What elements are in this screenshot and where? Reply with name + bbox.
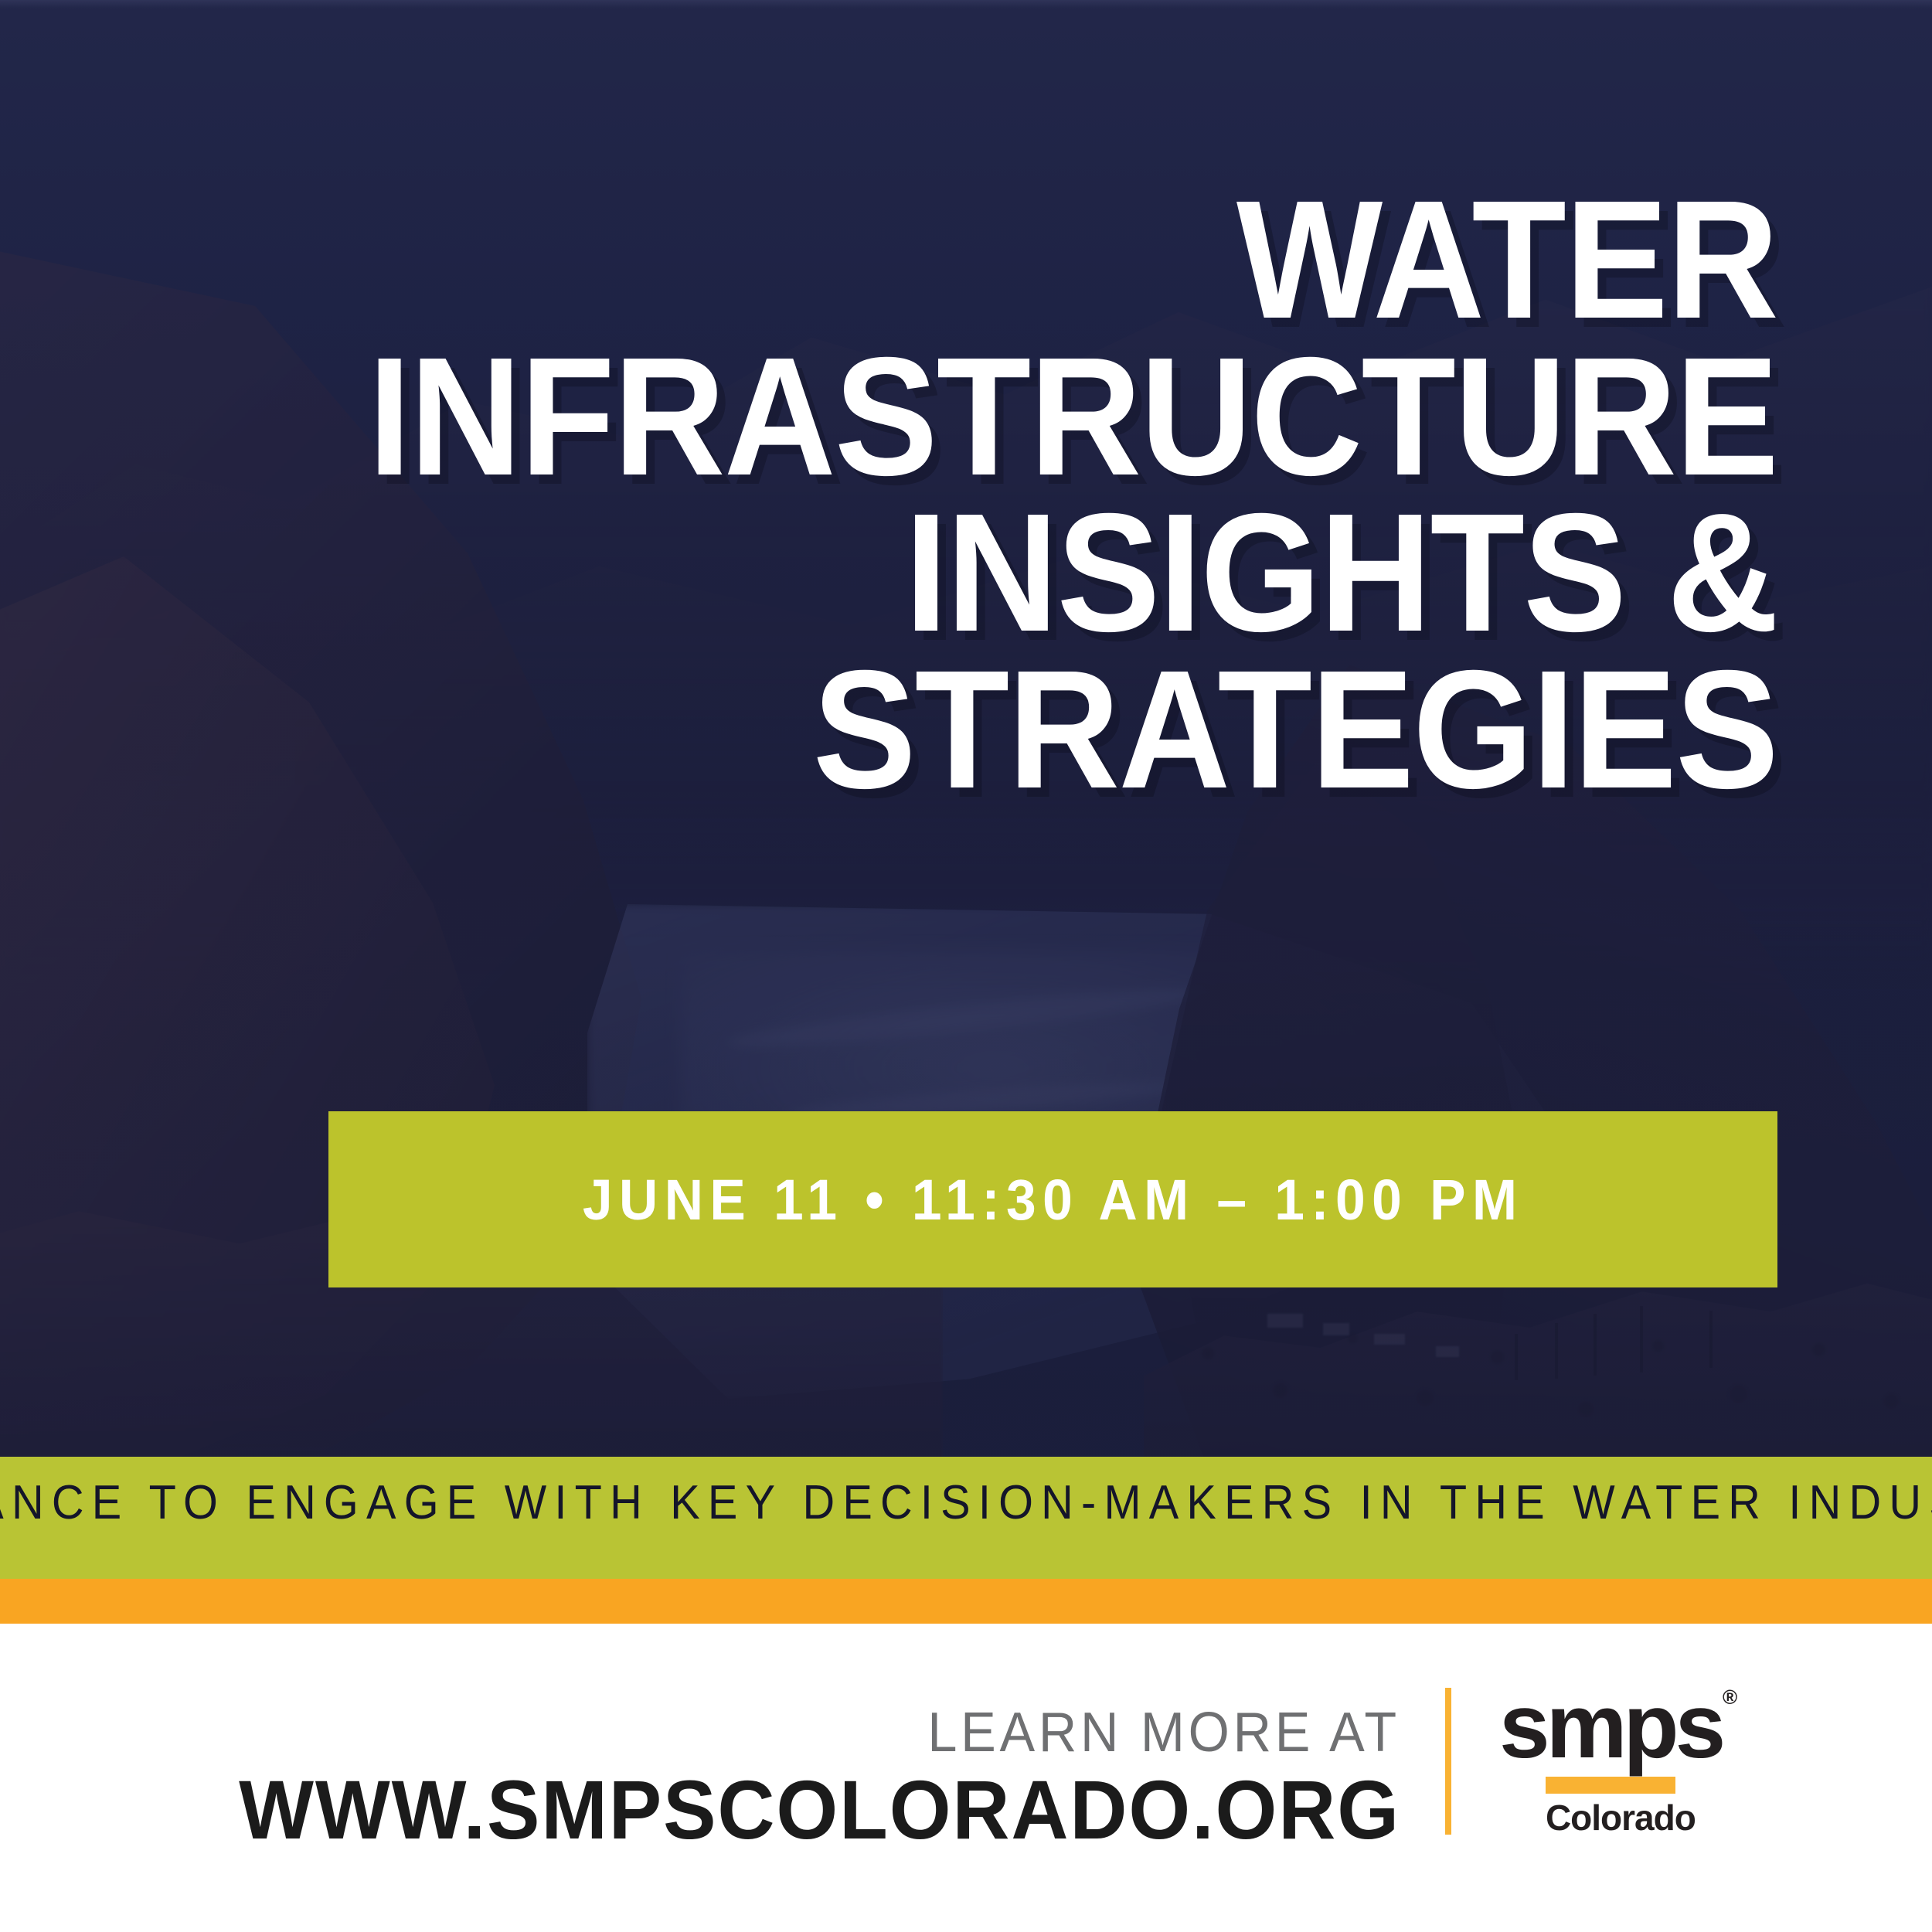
tagline-band: A CHANCE TO ENGAGE WITH KEY DECISION-MAK… — [0, 1457, 1932, 1579]
smps-wordmark-text: smps — [1499, 1675, 1722, 1777]
trademark-icon: ® — [1723, 1687, 1737, 1707]
footer-text-column: LEARN MORE AT WWW.SMPSCOLORADO.ORG — [178, 1705, 1400, 1852]
footer: LEARN MORE AT WWW.SMPSCOLORADO.ORG smps … — [0, 1624, 1932, 1932]
learn-more-label: LEARN MORE AT — [239, 1705, 1400, 1760]
smps-colorado-logo[interactable]: smps ® Colorado — [1499, 1681, 1754, 1835]
event-title: WATER INFRASTRUCTURE INSIGHTS & STRATEGI… — [355, 182, 1777, 809]
logo-chapter-name: Colorado — [1546, 1800, 1754, 1835]
event-title-line-2: INFRASTRUCTURE — [355, 339, 1777, 496]
event-datetime-bar: JUNE 11 • 11:30 AM – 1:00 PM — [328, 1111, 1777, 1287]
tagline-text: A CHANCE TO ENGAGE WITH KEY DECISION-MAK… — [0, 1475, 1932, 1530]
event-datetime-text: JUNE 11 • 11:30 AM – 1:00 PM — [583, 1167, 1524, 1233]
event-title-line-3: INSIGHTS & — [355, 495, 1777, 652]
website-url[interactable]: WWW.SMPSCOLORADO.ORG — [239, 1768, 1400, 1852]
logo-orange-bar — [1546, 1777, 1675, 1794]
orange-accent-stripe — [0, 1579, 1932, 1624]
event-title-line-1: WATER — [355, 182, 1777, 339]
event-title-line-4: STRATEGIES — [355, 652, 1777, 809]
event-promo-poster: WATER INFRASTRUCTURE INSIGHTS & STRATEGI… — [0, 0, 1932, 1932]
footer-divider — [1445, 1688, 1451, 1835]
smps-wordmark: smps ® — [1499, 1681, 1722, 1772]
